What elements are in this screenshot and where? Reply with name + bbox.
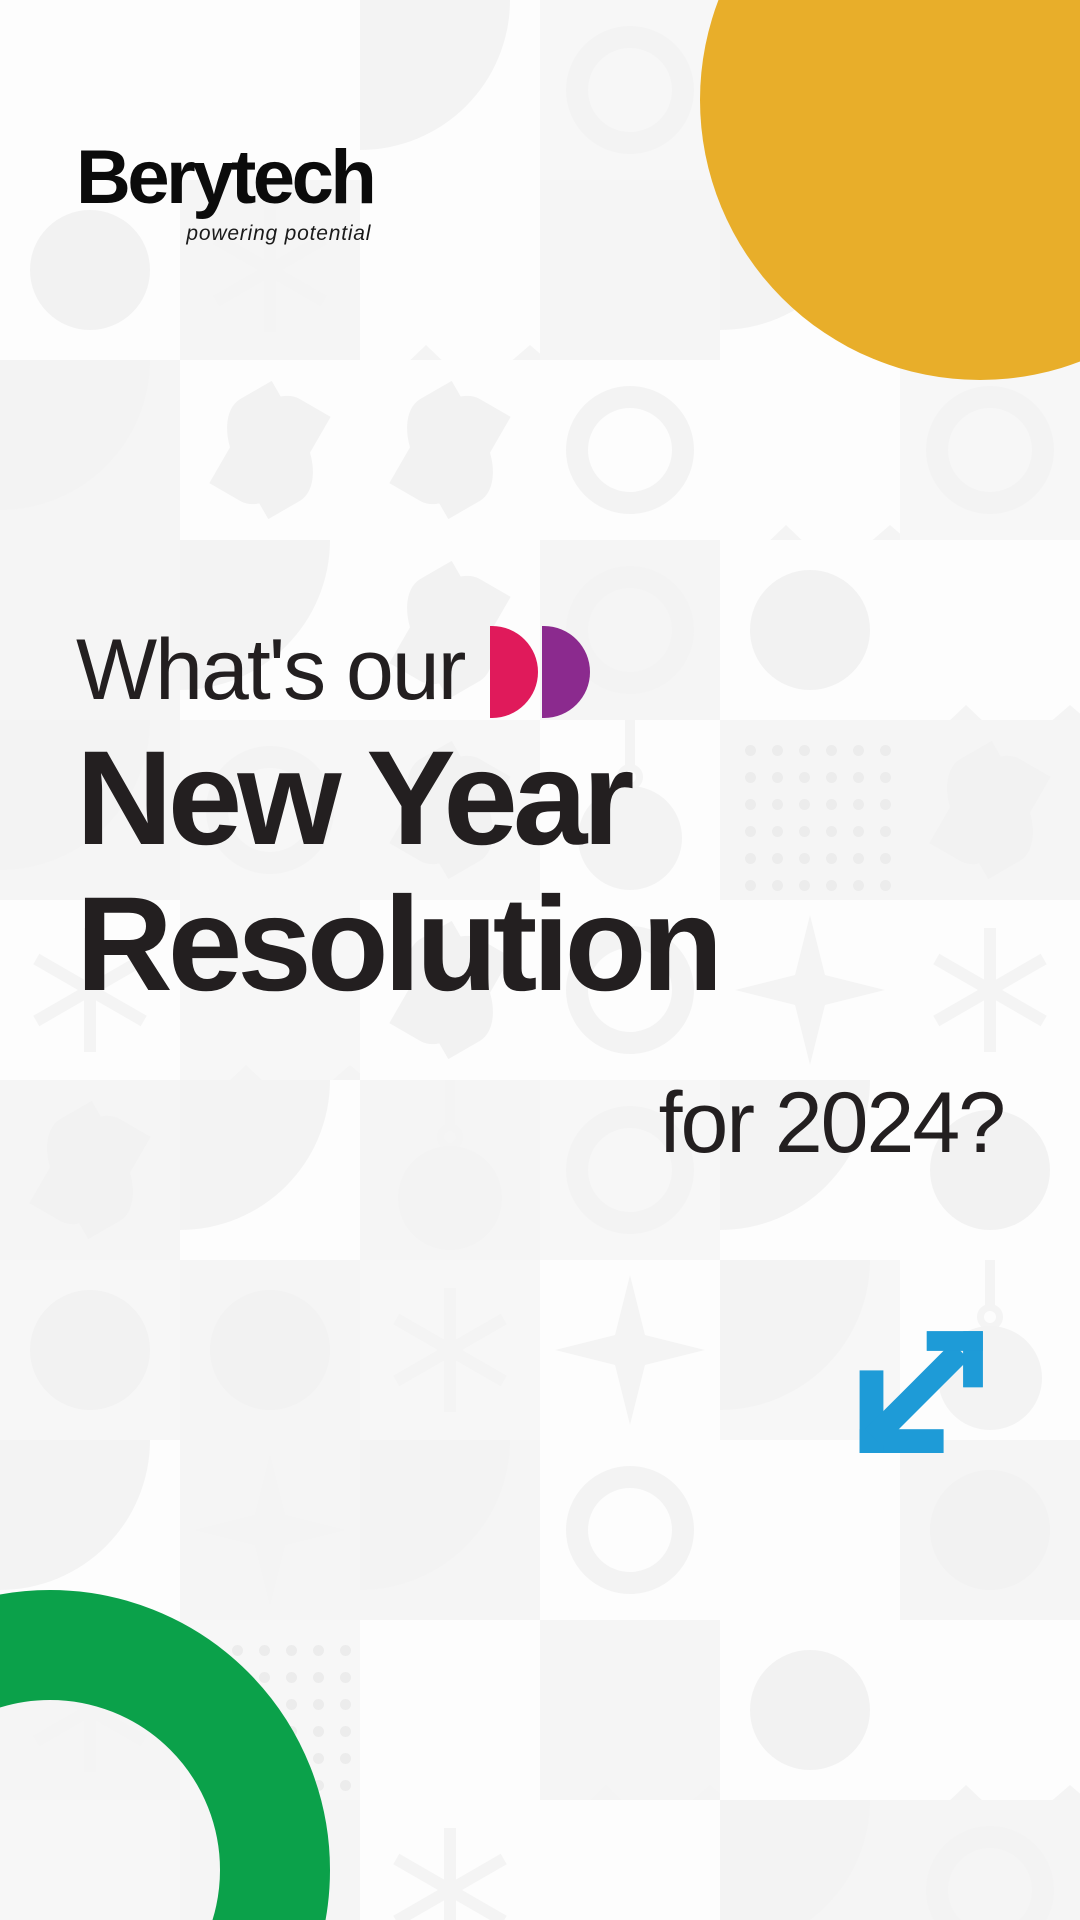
diagonal-up-right-arrow-icon [854,1320,994,1460]
logo-wordmark: Berytech [76,140,373,216]
poster-canvas: Berytech powering potential What's our N… [0,0,1080,1920]
pattern-tile [720,900,900,1080]
pattern-tile [900,720,1080,900]
pattern-tile [900,900,1080,1080]
pattern-tile [360,0,540,180]
logo-tagline: powering potential [76,222,373,246]
pattern-tile [900,1800,1080,1920]
pattern-tile [540,1620,720,1800]
pattern-tile [0,360,180,540]
pattern-tile [540,1260,720,1440]
pattern-tile [900,540,1080,720]
headline-line-2: New Year [76,732,630,866]
pattern-tile [0,1080,180,1260]
pattern-tile [900,1620,1080,1800]
dd-mark-pink-half [490,626,538,718]
dd-mark-purple-half [542,626,590,718]
pattern-tile [720,720,900,900]
pattern-tile [0,1260,180,1440]
pattern-tile [720,1800,900,1920]
berytech-dd-mark [490,626,590,718]
pattern-tile [180,1080,360,1260]
pattern-tile [360,180,540,360]
pattern-tile [720,1620,900,1800]
pattern-tile [360,360,540,540]
green-quarter-ring-accent [0,1490,430,1920]
pattern-tile [360,1260,540,1440]
gold-quarter-circle-accent [520,0,1080,560]
pattern-tile [720,1440,900,1620]
berytech-logo: Berytech powering potential [76,140,373,246]
headline-line-1: What's our [76,622,590,718]
pattern-tile [540,1440,720,1620]
headline-line-3: Resolution [76,878,718,1012]
pattern-tile [540,1800,720,1920]
pattern-tile [180,360,360,540]
headline-line-1-text: What's our [76,627,464,713]
pattern-tile [720,540,900,720]
pattern-tile [360,1080,540,1260]
headline-line-4: for 2024? [659,1080,1004,1166]
pattern-tile [180,1260,360,1440]
pattern-tile [900,1440,1080,1620]
